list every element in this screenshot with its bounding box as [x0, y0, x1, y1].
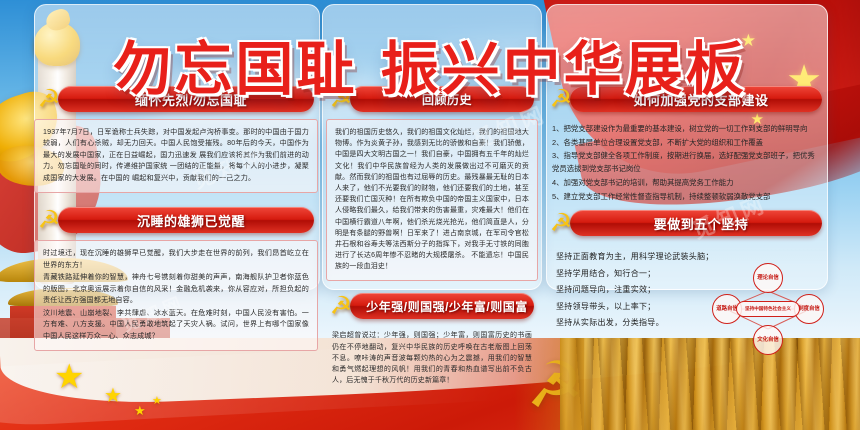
- diagram-node-center: 坚持中国特色社会主义: [736, 301, 800, 317]
- section-body-sleeping-lion: 时过境迁，现在沉睡的雄狮早已觉醒，我们大步走在世界的前列，我们昂首屹立在世界的东…: [34, 240, 318, 351]
- section-header-sleeping-lion[interactable]: ☭ 沉睡的雄狮已觉醒: [34, 207, 318, 233]
- party-branch-list: 1、把党支部建设作为最重要的基本建设，树立党的一切工作到支部的鲜明导向 2、各类…: [546, 119, 826, 203]
- party-emblem-icon: ☭: [546, 208, 576, 238]
- page-title: 勿忘国耻 振兴中华展板: [0, 22, 860, 106]
- party-emblem-icon: ☭: [326, 291, 356, 321]
- band-star-icon: ★: [134, 404, 146, 417]
- list-item: 1、把党支部建设作为最重要的基本建设，树立党的一切工作到支部的鲜明导向: [552, 123, 820, 136]
- section-pill: 要做到五个坚持: [570, 210, 822, 236]
- section-title: 沉睡的雄狮已觉醒: [127, 211, 245, 230]
- party-emblem-icon: ☭: [34, 205, 64, 235]
- section-body-remember-martyrs: 1937年7月7日，日军诡称士兵失踪，对中国发起卢沟桥事变。那时的中国由于国力较…: [34, 119, 318, 193]
- four-confidences-diagram: 理论自信 道路自信 制度自信 文化自信 坚持中国特色社会主义: [712, 263, 824, 355]
- section-header-youth-strong[interactable]: ☭ 少年强/则国强/少年富/则国富: [326, 293, 538, 319]
- right-column: ☭ 如何加强党的支部建设 1、把党支部建设作为最重要的基本建设，树立党的一切工作…: [546, 86, 826, 331]
- paragraph: 1937年7月7日，日军诡称士兵失踪，对中国发起卢沟桥事变。那时的中国由于国力较…: [43, 127, 309, 184]
- paragraph: 梁启超曾说过：少年强，则国强；少年富，则国富历史的书画仍在不停地翻动，复兴中华民…: [332, 330, 532, 386]
- left-column: ☭ 缅怀先烈/勿忘国耻 1937年7月7日，日军诡称士兵失踪，对中国发起卢沟桥事…: [34, 86, 318, 351]
- poster-content: ☭ 缅怀先烈/勿忘国耻 1937年7月7日，日军诡称士兵失踪，对中国发起卢沟桥事…: [0, 86, 860, 376]
- band-star-icon: ★: [152, 396, 162, 407]
- paragraph: 青藏铁路延伸着你的智慧，神舟七号镌刻着你甜美的声声，南海舰队护卫者你蓝色的版图，…: [43, 272, 309, 306]
- section-title: 少年强/则国强/少年富/则国富: [356, 298, 528, 315]
- section-body-review-history: 我们的祖国历史悠久，我们的祖国文化灿烂，我们的祖国地大物博。作为炎黄子孙，我感到…: [326, 119, 538, 281]
- middle-column: ☭ 回顾历史 我们的祖国历史悠久，我们的祖国文化灿烂，我们的祖国地大物博。作为炎…: [326, 86, 538, 391]
- list-item: 2、各类基层单位合理设置党支部，不断扩大党的组织和工作覆盖: [552, 137, 820, 150]
- list-item: 5、建立党支部工作经常性督查指导机制，持续整顿软弱涣散党支部: [552, 191, 820, 204]
- section-pill: 少年强/则国强/少年富/则国富: [350, 293, 534, 319]
- paragraph: 汶川地震、山崩地裂、李共肆虐、冰水蓝天。在危难时刻，中国人民没有害怕。一方有难、…: [43, 308, 309, 342]
- paragraph: 我们的祖国历史悠久，我们的祖国文化灿烂，我们的祖国地大物博。作为炎黄子孙，我感到…: [335, 127, 529, 272]
- list-item: 4、加强对党支部书记的培训，帮助其提高党务工作能力: [552, 177, 820, 190]
- section-header-five-persistences[interactable]: ☭ 要做到五个坚持: [546, 210, 826, 236]
- section-title: 要做到五个坚持: [644, 214, 749, 233]
- list-item: 3、指导党支部健全各项工作制度，按期进行换届，选好配强党支部班子，把优秀党员选拔…: [552, 150, 820, 175]
- paragraph: 时过境迁，现在沉睡的雄狮早已觉醒，我们大步走在世界的前列，我们昂首屹立在世界的东…: [43, 248, 309, 271]
- band-star-icon: ★: [104, 386, 122, 406]
- section-pill: 沉睡的雄狮已觉醒: [58, 207, 314, 233]
- section-body-youth-strong: 梁启超曾说过：少年强，则国强；少年富，则国富历史的书画仍在不停地翻动，复兴中华民…: [326, 326, 538, 391]
